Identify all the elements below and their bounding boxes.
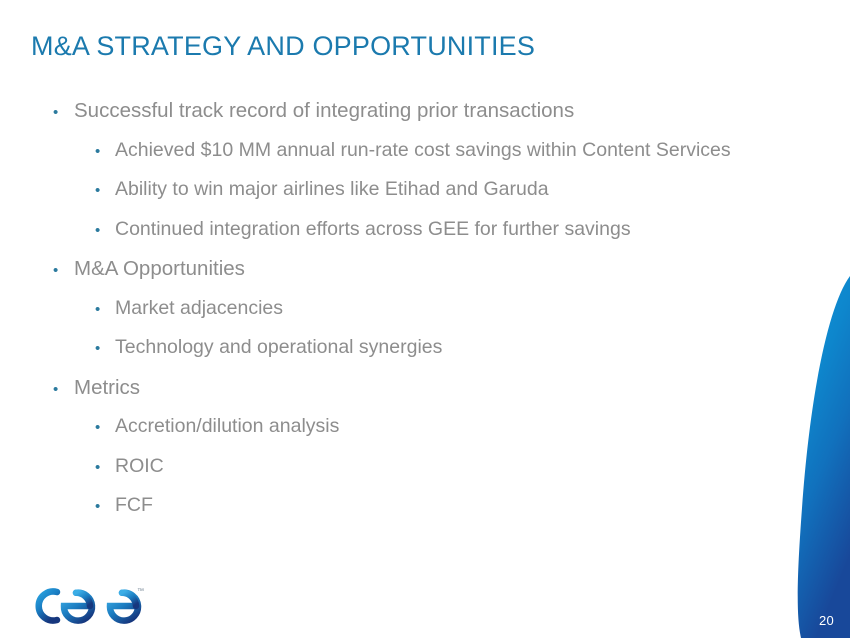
bullet-item: •Market adjacencies	[0, 297, 790, 337]
trademark-symbol: ™	[137, 588, 144, 595]
gee-logo: ™	[24, 583, 150, 627]
bullet-marker-icon: •	[53, 382, 74, 397]
bullet-marker-icon: •	[95, 183, 115, 198]
bullet-marker-icon: •	[95, 420, 115, 435]
bullet-marker-icon: •	[95, 302, 115, 317]
bullet-text: Technology and operational synergies	[115, 336, 442, 359]
bullet-marker-icon: •	[53, 263, 74, 278]
bullet-marker-icon: •	[95, 223, 115, 238]
bullet-marker-icon: •	[95, 144, 115, 159]
bullet-text: Achieved $10 MM annual run-rate cost sav…	[115, 139, 731, 162]
bullet-item: •FCF	[0, 494, 790, 534]
presentation-slide: M&A STRATEGY AND OPPORTUNITIES •Successf…	[0, 0, 850, 638]
bullet-text: Continued integration efforts across GEE…	[115, 218, 631, 241]
bullet-item: •ROIC	[0, 455, 790, 495]
bullet-marker-icon: •	[95, 460, 115, 475]
bullet-marker-icon: •	[95, 341, 115, 356]
bullet-text: Accretion/dilution analysis	[115, 415, 339, 438]
bullet-item: •Metrics	[0, 376, 790, 416]
bullet-text: Metrics	[74, 376, 140, 400]
bullet-item: •Achieved $10 MM annual run-rate cost sa…	[0, 139, 790, 179]
bullet-item: •M&A Opportunities	[0, 257, 790, 297]
bullet-text: Ability to win major airlines like Etiha…	[115, 178, 549, 201]
bullet-marker-icon: •	[95, 499, 115, 514]
bullet-item: •Accretion/dilution analysis	[0, 415, 790, 455]
bullet-item: •Technology and operational synergies	[0, 336, 790, 376]
bullet-marker-icon: •	[53, 105, 74, 120]
bullet-text: Successful track record of integrating p…	[74, 99, 574, 123]
bullet-text: Market adjacencies	[115, 297, 283, 320]
blue-crescent-decoration	[788, 276, 850, 638]
bullet-list: •Successful track record of integrating …	[0, 99, 790, 534]
page-number: 20	[819, 613, 834, 628]
bullet-item: •Ability to win major airlines like Etih…	[0, 178, 790, 218]
bullet-text: M&A Opportunities	[74, 257, 245, 281]
page-title: M&A STRATEGY AND OPPORTUNITIES	[31, 31, 535, 62]
bullet-text: FCF	[115, 494, 153, 517]
bullet-item: •Successful track record of integrating …	[0, 99, 790, 139]
bullet-item: •Continued integration efforts across GE…	[0, 218, 790, 258]
bullet-text: ROIC	[115, 455, 164, 478]
